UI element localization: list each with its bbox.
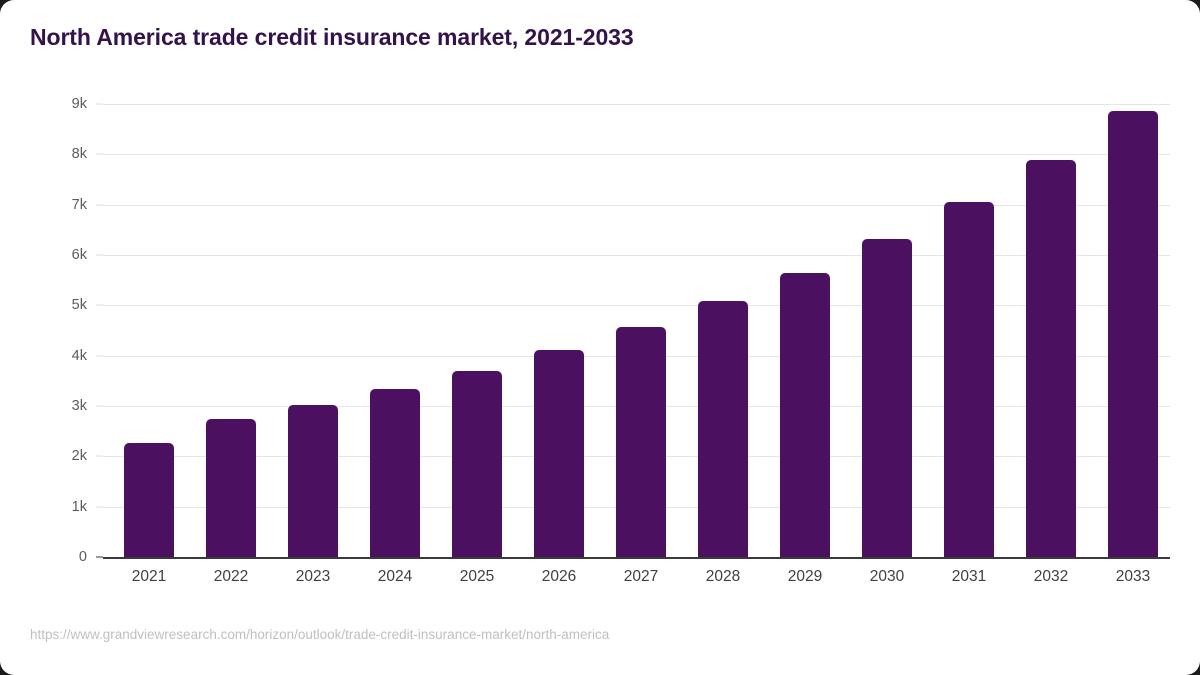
y-axis-tick-mark (96, 406, 103, 407)
bar[interactable] (534, 350, 584, 557)
y-axis-tick-label: 7k (72, 197, 87, 213)
x-axis-tick-label: 2026 (534, 568, 584, 586)
bar[interactable] (1026, 160, 1076, 557)
bar[interactable] (698, 301, 748, 557)
bar[interactable] (206, 419, 256, 557)
x-axis-tick-label: 2028 (698, 568, 748, 586)
x-axis-tick-label: 2030 (862, 568, 912, 586)
y-axis-tick-mark (96, 154, 103, 155)
source-url[interactable]: https://www.grandviewresearch.com/horizo… (30, 627, 609, 642)
gridline (103, 305, 1170, 306)
y-axis-tick-mark (96, 456, 103, 457)
x-axis-tick-label: 2032 (1026, 568, 1076, 586)
gridline (103, 205, 1170, 206)
bar[interactable] (862, 239, 912, 557)
y-axis-tick-mark (96, 355, 103, 356)
y-axis-tick-labels: 01k2k3k4k5k6k7k8k9k (0, 0, 95, 675)
y-axis-tick-label: 5k (72, 297, 87, 313)
y-axis-tick-label: 3k (72, 398, 87, 414)
gridline (103, 154, 1170, 155)
y-axis-tick-label: 0 (79, 549, 87, 565)
bar[interactable] (944, 202, 994, 557)
x-axis-tick-label: 2023 (288, 568, 338, 586)
axis-baseline (103, 557, 1170, 559)
page-title: North America trade credit insurance mar… (30, 24, 634, 51)
bar[interactable] (288, 405, 338, 557)
bar[interactable] (452, 371, 502, 557)
bar[interactable] (124, 443, 174, 557)
x-axis-tick-label: 2021 (124, 568, 174, 586)
x-axis-tick-label: 2022 (206, 568, 256, 586)
bar[interactable] (370, 389, 420, 557)
x-axis-tick-label: 2025 (452, 568, 502, 586)
y-axis-tick-label: 4k (72, 348, 87, 364)
x-axis-tick-label: 2027 (616, 568, 666, 586)
x-axis-tick-label: 2033 (1108, 568, 1158, 586)
chart-card: North America trade credit insurance mar… (0, 0, 1200, 675)
x-axis-tick-label: 2031 (944, 568, 994, 586)
gridline (103, 255, 1170, 256)
bar[interactable] (1108, 111, 1158, 557)
bar[interactable] (616, 327, 666, 557)
y-axis-tick-label: 2k (72, 448, 87, 464)
y-axis-tick-mark (96, 557, 103, 558)
x-axis-tick-label: 2029 (780, 568, 830, 586)
y-axis-tick-label: 6k (72, 247, 87, 263)
plot-area: 2021202220232024202520262027202820292030… (103, 104, 1170, 557)
y-axis-tick-mark (96, 305, 103, 306)
y-axis-tick-mark (96, 255, 103, 256)
y-axis-tick-label: 9k (72, 96, 87, 112)
y-axis-tick-label: 1k (72, 499, 87, 515)
bar[interactable] (780, 273, 830, 557)
y-axis-tick-mark (96, 104, 103, 105)
gridline (103, 104, 1170, 105)
y-axis-tick-mark (96, 204, 103, 205)
y-axis-tick-mark (96, 506, 103, 507)
y-axis-tick-label: 8k (72, 146, 87, 162)
x-axis-tick-label: 2024 (370, 568, 420, 586)
